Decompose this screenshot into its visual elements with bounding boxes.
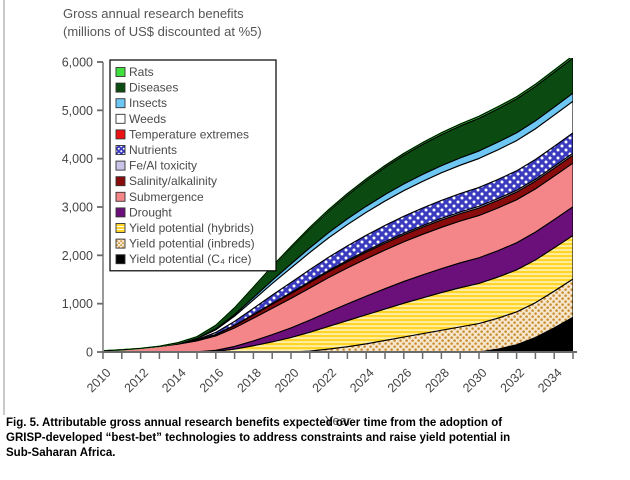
legend-swatch-icon xyxy=(116,224,125,233)
legend-label: Nutrients xyxy=(129,143,177,157)
x-tick-label: 2020 xyxy=(272,366,302,396)
legend-item[interactable]: Salinity/alkalinity xyxy=(116,174,217,188)
x-tick-label: 2010 xyxy=(84,366,114,396)
legend-item[interactable]: Yield potential (inbreds) xyxy=(116,237,255,251)
legend-label: Yield potential (inbreds) xyxy=(129,237,255,251)
legend-swatch-icon xyxy=(116,99,125,108)
y-tick-label: 4,000 xyxy=(62,152,93,166)
x-tick-label: 2022 xyxy=(310,366,340,396)
legend-swatch-icon xyxy=(116,146,125,155)
legend-label: Drought xyxy=(129,205,172,219)
caption-line-3: Sub-Saharan Africa. xyxy=(6,446,624,461)
x-tick-label: 2016 xyxy=(197,366,227,396)
caption-line-2: GRISP-developed “best-bet” technologies … xyxy=(6,431,624,446)
legend-item[interactable]: Nutrients xyxy=(116,143,177,157)
legend-swatch-icon xyxy=(116,114,125,123)
x-tick-label: 2026 xyxy=(385,366,415,396)
y-tick-label: 1,000 xyxy=(62,297,93,311)
x-tick-label: 2034 xyxy=(535,366,565,396)
figure-caption: Fig. 5. Attributable gross annual resear… xyxy=(6,416,624,462)
x-tick-label: 2030 xyxy=(460,366,490,396)
legend-swatch-icon xyxy=(116,177,125,186)
x-tick-label: 2028 xyxy=(422,366,452,396)
legend-item[interactable]: Submergence xyxy=(116,190,204,204)
chart-title-line1: Gross annual research benefits xyxy=(63,6,244,21)
chart-title-line2: (millions of US$ discounted at %5) xyxy=(63,24,262,39)
legend-item[interactable]: Insects xyxy=(116,96,167,110)
y-tick-label: 5,000 xyxy=(62,104,93,118)
y-tick-label: 3,000 xyxy=(62,201,93,215)
y-tick-label: 2,000 xyxy=(62,249,93,263)
legend-item[interactable]: Drought xyxy=(116,205,172,219)
legend-swatch-icon xyxy=(116,68,125,77)
legend-label: Fe/Al toxicity xyxy=(129,159,197,173)
x-tick-label: 2014 xyxy=(159,366,189,396)
caption-line-1: Fig. 5. Attributable gross annual resear… xyxy=(6,416,624,431)
legend-label: Submergence xyxy=(129,190,204,204)
legend-item[interactable]: Rats xyxy=(116,65,154,79)
legend-swatch-icon xyxy=(116,130,125,139)
legend-item[interactable]: Yield potential (C₄ rice) xyxy=(116,252,252,266)
legend-swatch-icon xyxy=(116,192,125,201)
legend-item[interactable]: Temperature extremes xyxy=(116,127,249,141)
legend-swatch-icon xyxy=(116,83,125,92)
y-tick-label: 0 xyxy=(86,346,93,360)
legend-swatch-icon xyxy=(116,161,125,170)
legend-item[interactable]: Yield potential (hybrids) xyxy=(116,221,254,235)
legend-item[interactable]: Diseases xyxy=(116,81,178,95)
legend-label: Yield potential (C₄ rice) xyxy=(129,252,252,266)
figure-canvas: Gross annual research benefits (millions… xyxy=(0,0,630,480)
legend-item[interactable]: Weeds xyxy=(116,112,166,126)
chart-legend: RatsDiseasesInsectsWeedsTemperature extr… xyxy=(110,60,276,271)
legend-label: Yield potential (hybrids) xyxy=(129,221,254,235)
x-tick-label: 2032 xyxy=(498,366,528,396)
legend-label: Insects xyxy=(129,96,167,110)
x-tick-label: 2024 xyxy=(347,366,377,396)
legend-label: Weeds xyxy=(129,112,166,126)
legend-swatch-icon xyxy=(116,239,125,248)
y-tick-label: 6,000 xyxy=(62,56,93,70)
legend-label: Diseases xyxy=(129,81,178,95)
legend-swatch-icon xyxy=(116,208,125,217)
legend-label: Salinity/alkalinity xyxy=(129,174,217,188)
legend-item[interactable]: Fe/Al toxicity xyxy=(116,159,197,173)
legend-label: Temperature extremes xyxy=(129,127,249,141)
legend-label: Rats xyxy=(129,65,154,79)
legend-swatch-icon xyxy=(116,255,125,264)
x-tick-label: 2012 xyxy=(122,366,152,396)
x-tick-label: 2018 xyxy=(234,366,264,396)
